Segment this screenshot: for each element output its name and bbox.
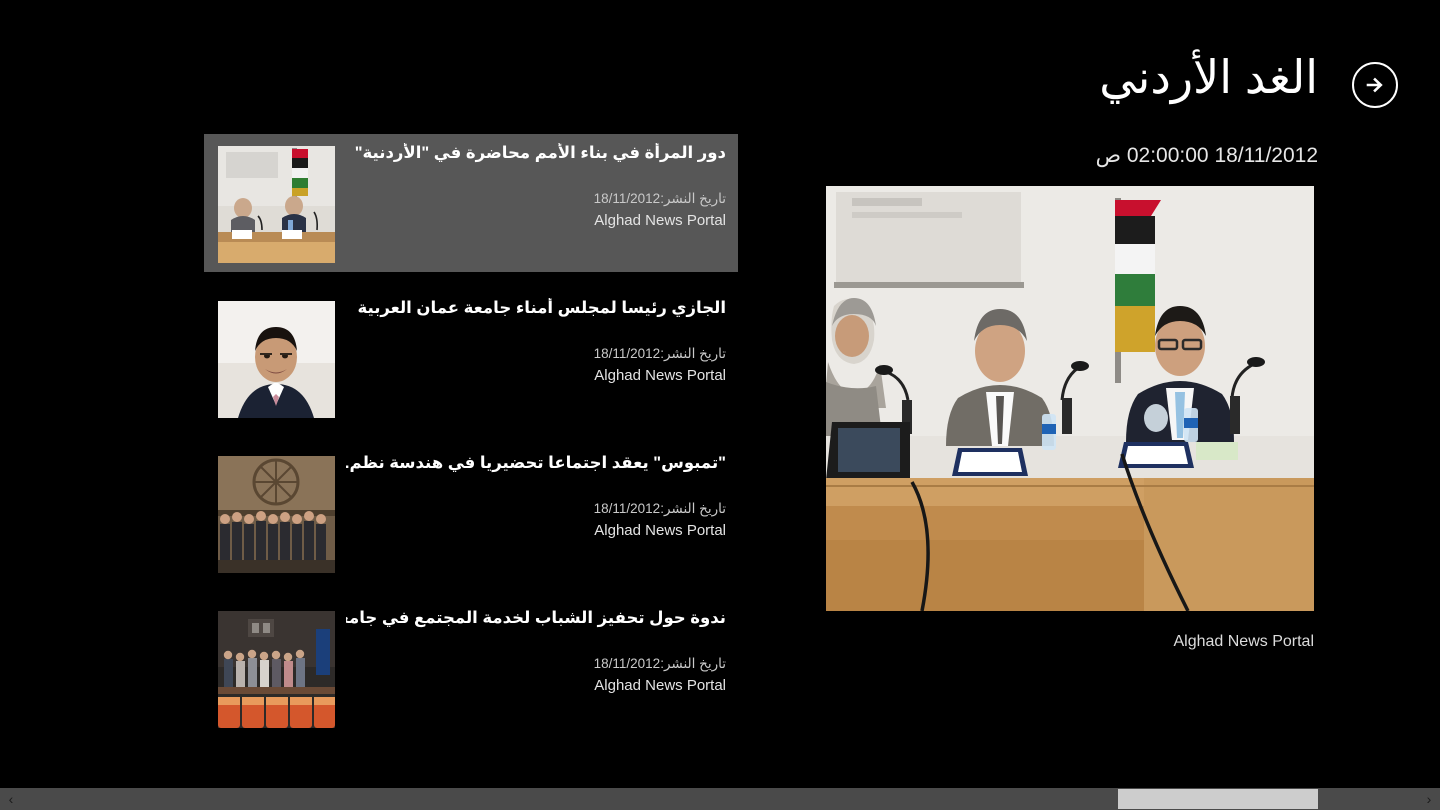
list-item-date: تاريخ النشر:18/11/2012	[346, 656, 726, 672]
list-item-source: Alghad News Portal	[346, 367, 726, 384]
list-item[interactable]: الجازي رئيسا لمجلس أمناء جامعة عمان العر…	[204, 289, 738, 427]
list-item-thumbnail	[218, 146, 335, 263]
previous-news-column: الأ تا al ي تا al الأ تا al ي تا al	[0, 134, 133, 754]
list-item-title: "تمبوس" يعقد اجتماعا تحضيريا في هندسة نظ…	[346, 453, 726, 474]
list-item[interactable]: ي تا al	[0, 599, 133, 737]
horizontal-scrollbar[interactable]: ‹ ›	[0, 788, 1440, 810]
list-item-date: تاريخ النشر:18/11/2012	[346, 346, 726, 362]
article-detail-pane: Alghad News Portal	[826, 186, 1314, 651]
article-image-caption: Alghad News Portal	[826, 633, 1314, 651]
list-item-date: تاريخ النشر:18/11/2012	[346, 501, 726, 517]
list-item-thumbnail	[218, 456, 335, 573]
list-item-source: Alghad News Portal	[346, 677, 726, 694]
scroll-right-arrow-icon[interactable]: ›	[0, 788, 22, 810]
list-item[interactable]: الأ تا al	[0, 134, 133, 272]
list-item-thumbnail	[218, 611, 335, 728]
list-item-title: دور المرأة في بناء الأمم محاضرة في "الأر…	[346, 143, 726, 164]
article-hero-image	[826, 186, 1314, 611]
arrow-right-circle-icon[interactable]	[1352, 62, 1398, 108]
list-item-source: Alghad News Portal	[346, 522, 726, 539]
list-item[interactable]: "تمبوس" يعقد اجتماعا تحضيريا في هندسة نظ…	[204, 444, 738, 582]
app-root: الغد الأردني 18/11/2012 02:00:00 ص الأ ت…	[0, 0, 1440, 810]
list-item-thumbnail	[218, 301, 335, 418]
app-header: الغد الأردني 18/11/2012 02:00:00 ص	[0, 0, 1440, 135]
news-list: دور المرأة في بناء الأمم محاضرة في "الأر…	[204, 134, 738, 754]
list-item-title: الجازي رئيسا لمجلس أمناء جامعة عمان العر…	[346, 298, 726, 319]
list-item[interactable]: ندوة حول تحفيز الشباب لخدمة المجتمع في ج…	[204, 599, 738, 737]
list-item-source: Alghad News Portal	[346, 212, 726, 229]
list-item[interactable]: الأ تا al	[0, 444, 133, 582]
scroll-left-arrow-icon[interactable]: ‹	[1418, 788, 1440, 810]
list-item[interactable]: دور المرأة في بناء الأمم محاضرة في "الأر…	[204, 134, 738, 272]
list-item-date: تاريخ النشر:18/11/2012	[346, 191, 726, 207]
scrollbar-track[interactable]	[22, 788, 1418, 810]
list-item-title: ندوة حول تحفيز الشباب لخدمة المجتمع في ج…	[346, 608, 726, 629]
list-item[interactable]: ي تا al	[0, 289, 133, 427]
scrollbar-thumb[interactable]	[1118, 789, 1318, 809]
page-title: الغد الأردني	[0, 52, 1318, 103]
